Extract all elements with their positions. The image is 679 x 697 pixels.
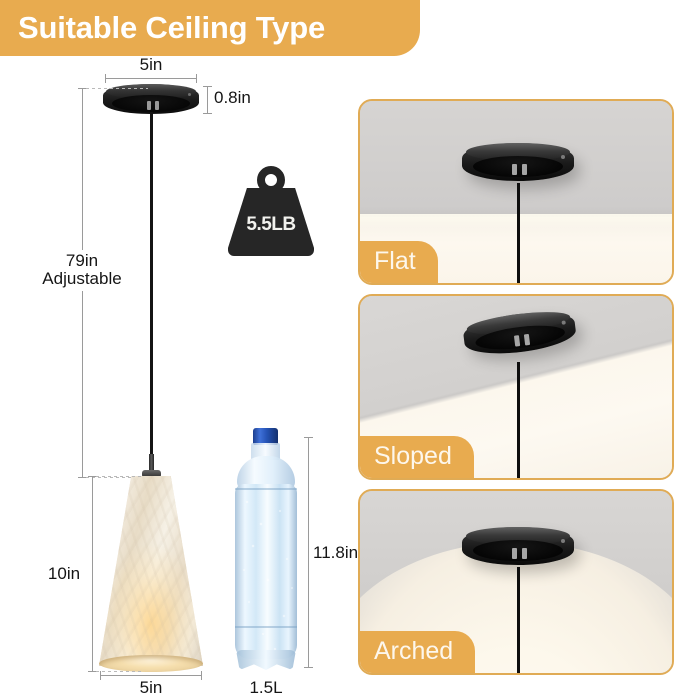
ceiling-type-panel-sloped[interactable]: Sloped — [358, 294, 674, 480]
panel-cord-sloped — [517, 362, 520, 480]
shade-width-tick-right — [201, 671, 202, 680]
canopy-screw-icon — [561, 155, 565, 159]
canopy-terminal-right — [155, 101, 159, 110]
cord-length-value: 79in — [14, 252, 150, 270]
shade-height-dimension-line — [92, 476, 93, 672]
bottle-condensation-droplets — [235, 484, 297, 659]
weight-block: 5.5LB — [228, 188, 314, 256]
ceiling-type-panel-flat[interactable]: Flat — [358, 99, 674, 285]
bottle-height-tick-top — [304, 437, 313, 438]
cord-length-leader-top — [86, 88, 148, 89]
canopy-underside — [112, 95, 190, 112]
panel-canopy-arched — [462, 527, 574, 571]
weight-value-label: 5.5LB — [246, 214, 295, 236]
canopy-height-label: 0.8in — [214, 89, 251, 107]
canopy-width-tick-left — [105, 74, 106, 83]
shade-width-tick-left — [100, 671, 101, 680]
canopy-underside — [473, 156, 563, 177]
canopy-height-tick-bottom — [203, 113, 212, 114]
cord-length-adjustable-text: Adjustable — [14, 270, 150, 288]
canopy-width-label: 5in — [121, 56, 181, 74]
panel-label-flat: Flat — [360, 241, 438, 283]
canopy-width-dimension-line — [105, 78, 197, 79]
canopy-width-tick-right — [196, 74, 197, 83]
shade-height-label: 10in — [40, 565, 88, 583]
hanging-cord — [150, 112, 153, 502]
bottle-height-tick-bottom — [304, 667, 313, 668]
bottle-base — [236, 650, 296, 670]
cord-length-label: 79in Adjustable — [14, 250, 150, 291]
lamp-shade — [99, 476, 203, 672]
page-title: Suitable Ceiling Type — [0, 10, 325, 46]
shade-bottom-opening — [99, 655, 203, 672]
shade-marble-texture — [99, 476, 203, 666]
panel-label-sloped: Sloped — [360, 436, 474, 478]
bottle-volume-label: 1.5L — [236, 679, 296, 697]
canopy-terminal-left — [512, 548, 517, 559]
canopy-terminal-right — [522, 164, 527, 175]
product-dimension-diagram: 5in 0.8in 79in Adjustable 5.5LB — [0, 56, 350, 694]
water-bottle-scale-reference — [231, 428, 301, 676]
canopy-screw-icon — [188, 93, 191, 96]
panel-cord-arched — [517, 567, 520, 675]
canopy-height-dimension-line — [207, 86, 208, 114]
panel-canopy-flat — [462, 143, 574, 187]
ceiling-type-panel-arched[interactable]: Arched — [358, 489, 674, 675]
shade-width-dimension-line — [100, 675, 202, 676]
canopy-underside — [473, 540, 563, 561]
bottle-height-dimension-line — [308, 437, 309, 668]
panel-cord-flat — [517, 183, 520, 285]
shade-height-leader-top — [96, 476, 142, 477]
weight-icon: 5.5LB — [225, 166, 315, 261]
title-banner: Suitable Ceiling Type — [0, 0, 420, 56]
shade-height-leader-bottom — [96, 671, 144, 672]
canopy-terminal-right — [522, 548, 527, 559]
canopy-height-tick-top — [203, 86, 212, 87]
bottle-height-label: 11.8in — [313, 544, 358, 562]
canopy-terminal-left — [147, 101, 151, 110]
shade-width-label: 5in — [121, 679, 181, 697]
canopy-terminal-left — [512, 164, 517, 175]
canopy-screw-icon — [561, 539, 565, 543]
panel-label-arched: Arched — [360, 631, 475, 673]
